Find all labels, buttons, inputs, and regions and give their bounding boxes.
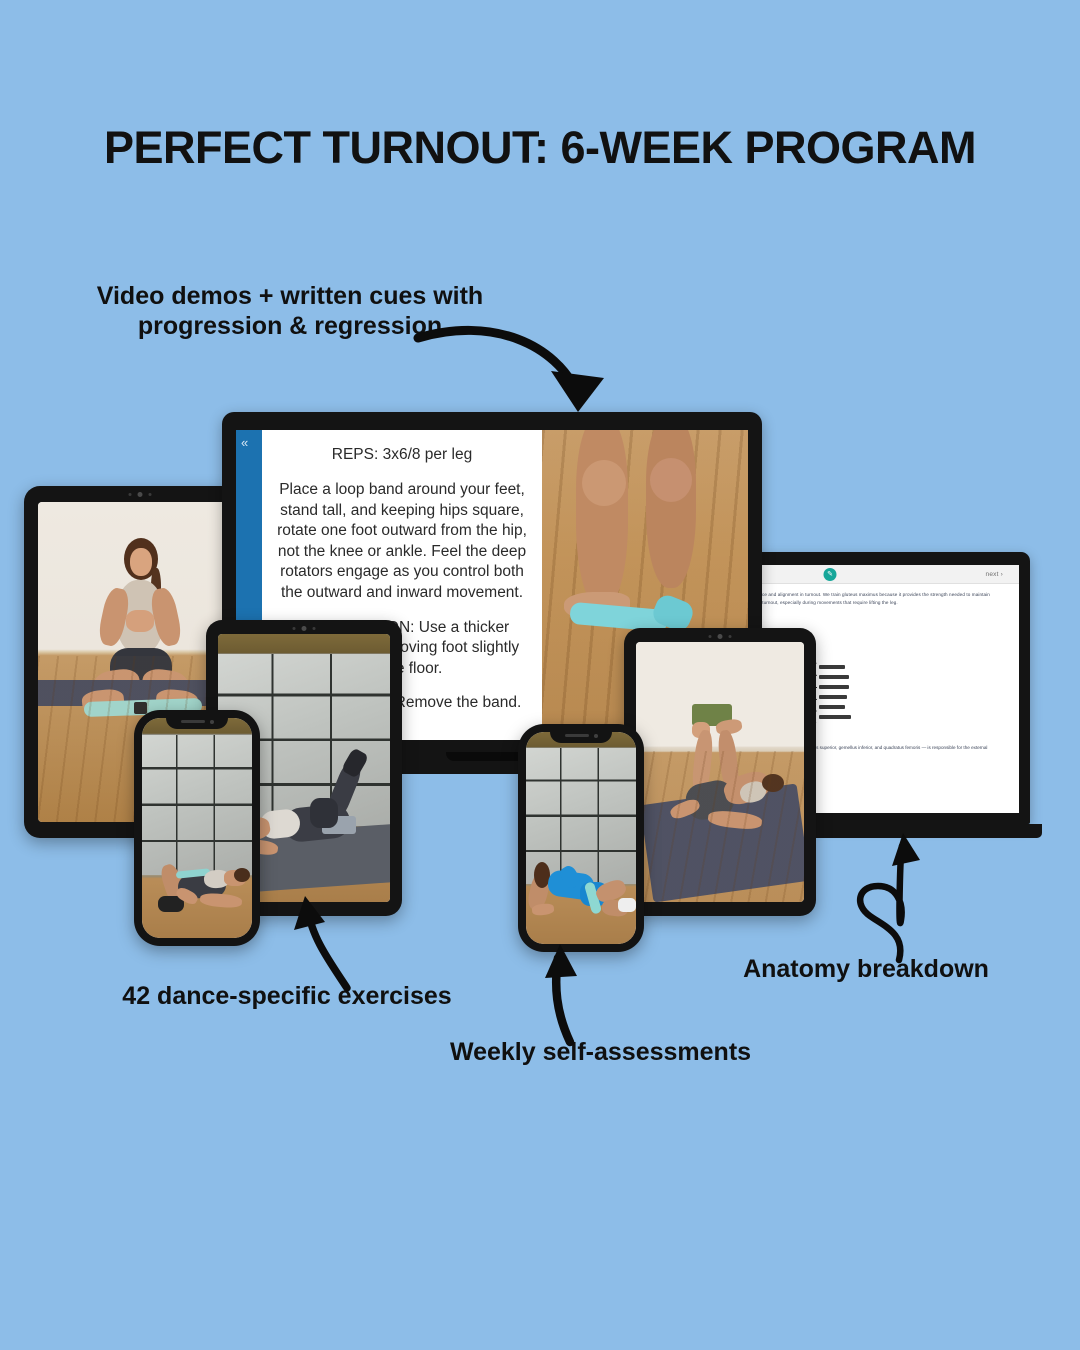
tablet-right-screen[interactable]	[636, 642, 804, 902]
device-phone-left	[134, 710, 260, 946]
reps-label: REPS: 3x6/8 per leg	[276, 446, 528, 464]
device-tablet-right	[624, 628, 816, 916]
phone-notch	[550, 728, 612, 743]
photo-side-clamshell	[526, 732, 636, 944]
next-link[interactable]: next ›	[986, 571, 1003, 578]
cue-primary: Place a loop band around your feet, stan…	[276, 480, 528, 604]
promo-canvas: PERFECT TURNOUT: 6-WEEK PROGRAM	[0, 0, 1080, 1350]
photo-block-between-feet	[636, 642, 804, 902]
phone-left-screen[interactable]	[142, 718, 252, 938]
callout-anatomy-breakdown: Anatomy breakdown	[716, 955, 1016, 985]
camera-icon	[709, 634, 732, 639]
arrow-to-weekly	[545, 944, 577, 1042]
pencil-icon[interactable]: ✎	[824, 568, 837, 581]
speaker-icon	[181, 720, 205, 723]
callout-video-demos: Video demos + written cues with progress…	[90, 282, 490, 341]
arrow-to-anatomy	[860, 833, 920, 960]
front-camera-icon	[594, 734, 598, 738]
page-title: PERFECT TURNOUT: 6-WEEK PROGRAM	[0, 122, 1080, 174]
device-phone-right	[518, 724, 644, 952]
collapse-chevron-icon[interactable]: «	[241, 436, 248, 449]
camera-icon	[129, 492, 152, 497]
camera-icon	[293, 626, 316, 631]
callout-exercises: 42 dance-specific exercises	[92, 982, 482, 1012]
phone-notch	[166, 714, 228, 729]
callout-weekly-assessments: Weekly self-assessments	[418, 1038, 783, 1068]
front-camera-icon	[210, 720, 214, 724]
photo-bridge-band	[142, 718, 252, 938]
speaker-icon	[565, 734, 589, 737]
phone-right-screen[interactable]	[526, 732, 636, 944]
arrow-to-laptop	[418, 330, 604, 412]
